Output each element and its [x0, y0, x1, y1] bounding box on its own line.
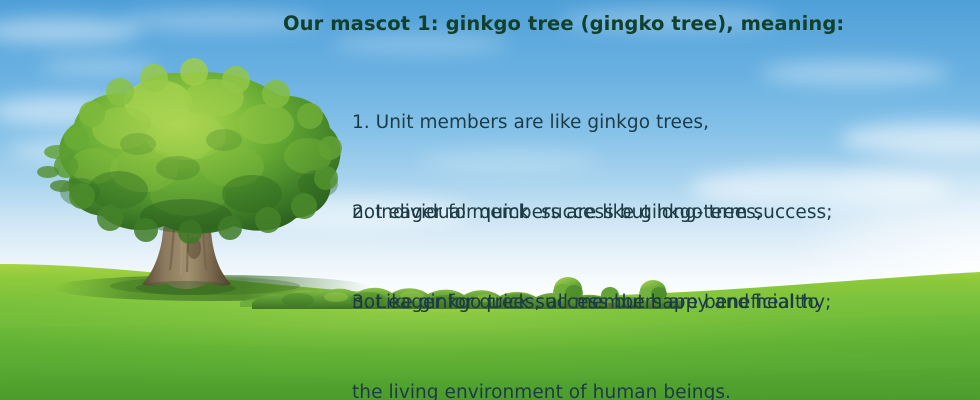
mascot-banner: Our mascot 1: ginkgo tree (gingko tree),… — [0, 0, 980, 400]
text-overlay: Our mascot 1: ginkgo tree (gingko tree),… — [0, 0, 980, 300]
point-3-line-1: 3. Like ginkgo trees, all members are be… — [352, 288, 819, 318]
mascot-point-3: 3. Like ginkgo trees, all members are be… — [352, 228, 819, 400]
point-2-line-1: 2. Individual members are like ginkgo tr… — [352, 198, 831, 228]
page-title: Our mascot 1: ginkgo tree (gingko tree),… — [283, 12, 844, 35]
point-1-line-1: 1. Unit members are like ginkgo trees, — [352, 108, 833, 138]
point-3-line-2: the living environment of human beings. — [352, 378, 819, 400]
